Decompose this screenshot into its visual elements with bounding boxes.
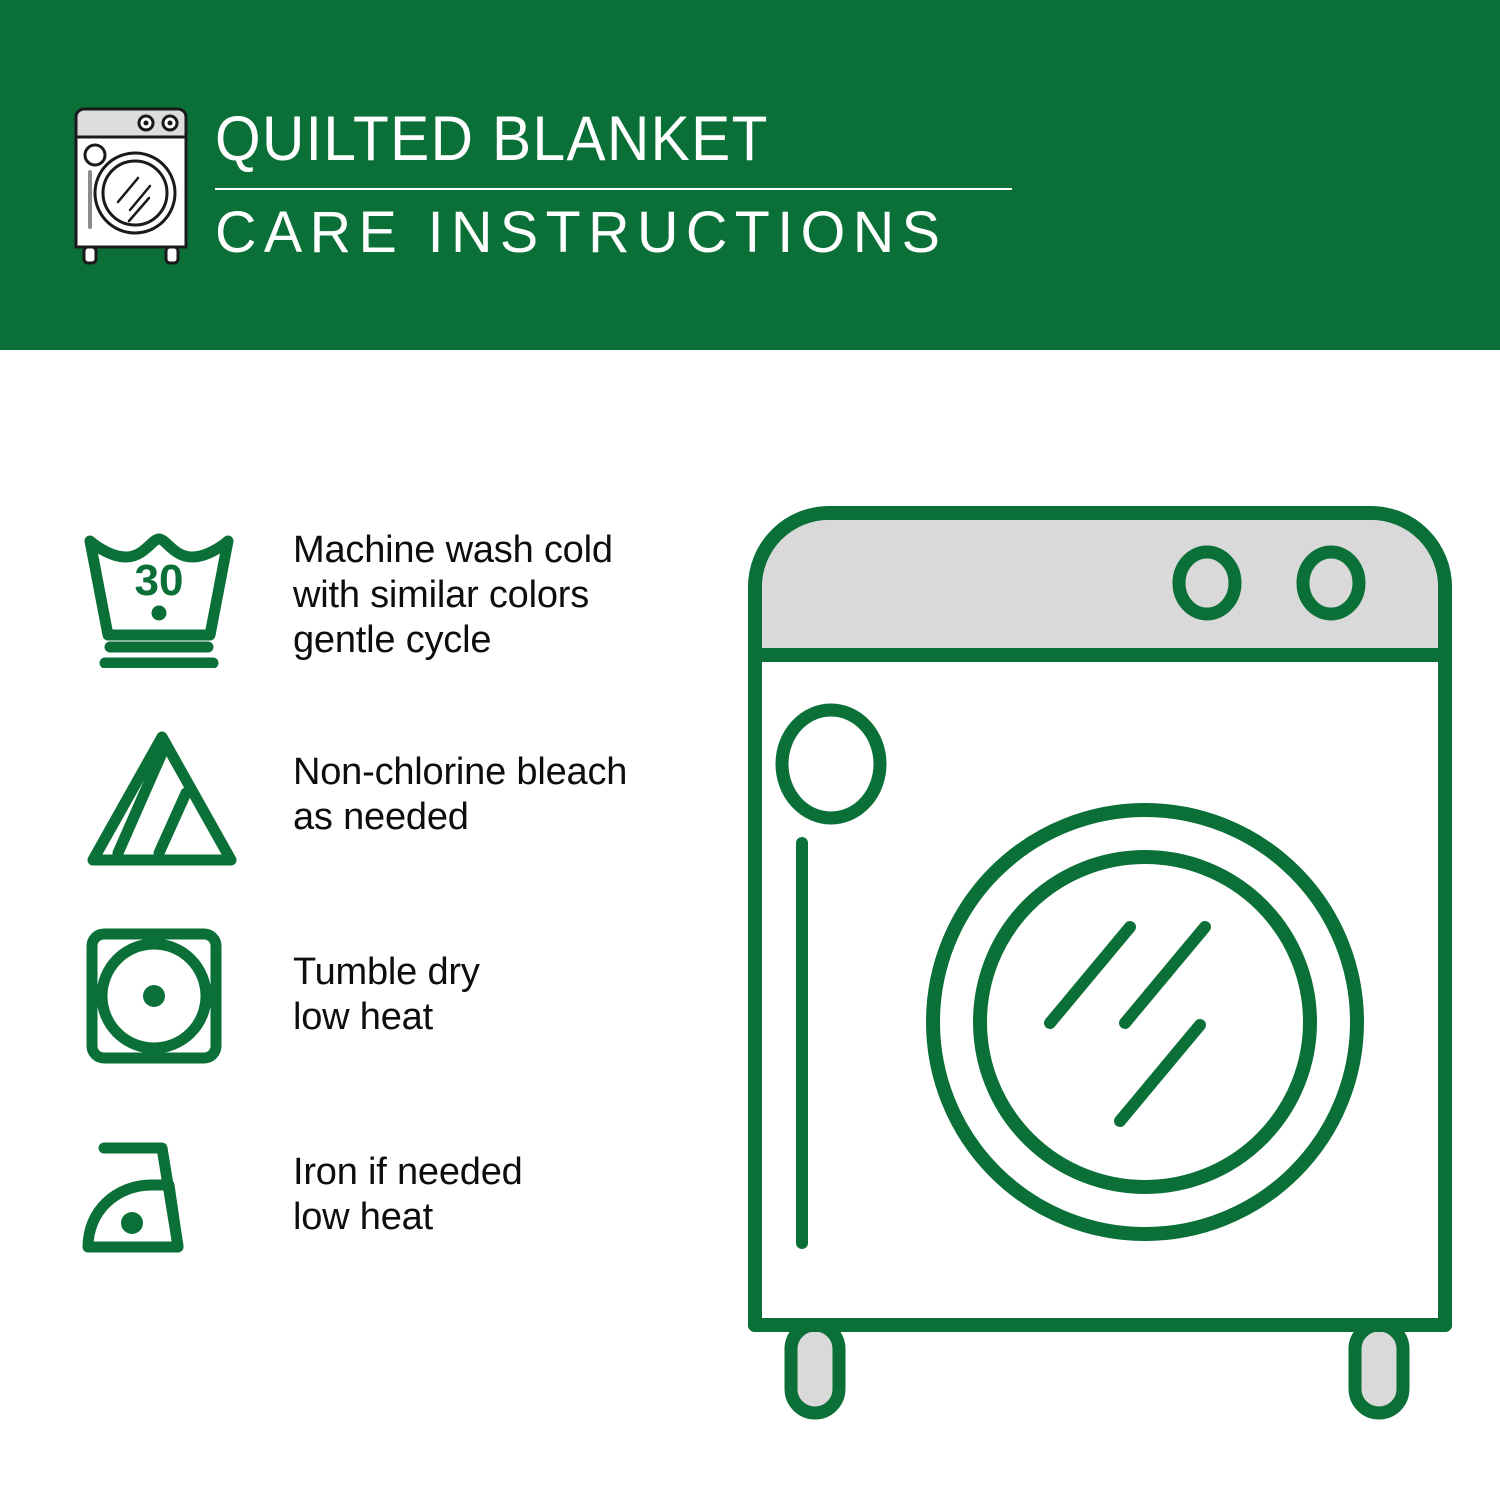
list-item: Tumble dry low heat	[60, 895, 720, 1095]
care-label-line: Non-chlorine bleach	[293, 750, 627, 795]
care-label-line: low heat	[293, 1195, 523, 1240]
header-text-block: QUILTED BLANKET CARE INSTRUCTIONS	[215, 104, 1015, 266]
care-label: Iron if needed low heat	[245, 1150, 523, 1240]
washer-leg-right	[1355, 1325, 1403, 1413]
washer-leg-left	[791, 1325, 839, 1413]
care-instructions-page: QUILTED BLANKET CARE INSTRUCTIONS 30	[0, 0, 1500, 1500]
list-item: 30 Machine wash cold with similar colors…	[60, 495, 720, 695]
page-subtitle: CARE INSTRUCTIONS	[215, 200, 1007, 266]
iron-low-heat-icon	[60, 1123, 245, 1268]
care-label-line: as needed	[293, 795, 627, 840]
care-label: Machine wash cold with similar colors ge…	[245, 528, 613, 663]
header-banner: QUILTED BLANKET CARE INSTRUCTIONS	[0, 0, 1500, 350]
care-label: Tumble dry low heat	[245, 950, 480, 1040]
front-load-washing-machine-illustration	[745, 495, 1455, 1425]
care-label-line: gentle cycle	[293, 618, 613, 663]
care-label-line: Iron if needed	[293, 1150, 523, 1195]
control-panel	[762, 520, 1438, 655]
machine-wash-30-gentle-icon: 30	[60, 523, 245, 668]
tumble-dry-low-heat-icon	[60, 923, 245, 1068]
page-title: QUILTED BLANKET	[215, 104, 959, 174]
list-item: Non-chlorine bleach as needed	[60, 695, 720, 895]
non-chlorine-bleach-triangle-icon	[60, 723, 245, 868]
care-instructions-list: 30 Machine wash cold with similar colors…	[60, 495, 720, 1295]
care-label: Non-chlorine bleach as needed	[245, 750, 627, 840]
care-label-line: with similar colors	[293, 573, 613, 618]
care-label-line: Tumble dry	[293, 950, 480, 995]
list-item: Iron if needed low heat	[60, 1095, 720, 1295]
washing-machine-icon	[62, 104, 202, 269]
care-label-line: Machine wash cold	[293, 528, 613, 573]
title-divider	[215, 188, 1012, 190]
care-label-line: low heat	[293, 995, 480, 1040]
wash-temperature-value: 30	[135, 556, 184, 605]
